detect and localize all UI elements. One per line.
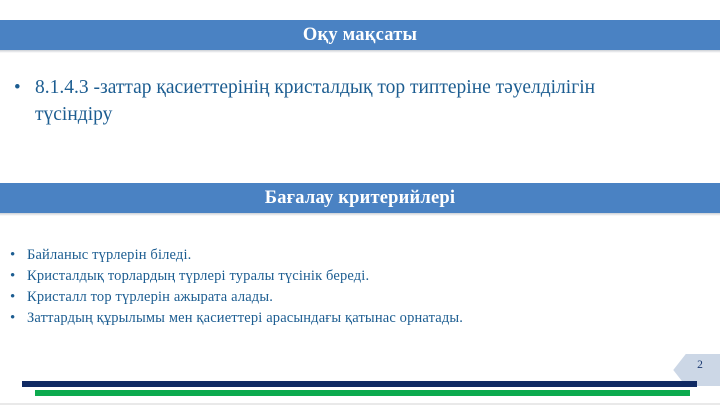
- objective-item-text: 8.1.4.3 -заттар қасиеттерінің кристалдық…: [31, 74, 654, 128]
- page-number: 2: [690, 358, 710, 372]
- criteria-list-item: • Кристалл тор түрлерін ажырата алады.: [6, 287, 686, 308]
- criteria-item-text: Кристалдық торлардың түрлері туралы түсі…: [27, 266, 686, 287]
- criteria-item-text: Заттардың құрылымы мен қасиеттері арасын…: [27, 308, 686, 329]
- objective-list: • 8.1.4.3 -заттар қасиеттерінің кристалд…: [14, 74, 654, 128]
- bullet-icon: •: [6, 245, 27, 266]
- criteria-banner: Бағалау критерийлері: [0, 183, 720, 213]
- criteria-item-text: Байланыс түрлерін біледі.: [27, 245, 686, 266]
- criteria-list-item: • Кристалдық торлардың түрлері туралы тү…: [6, 266, 686, 287]
- criteria-banner-shadow: [0, 213, 720, 216]
- bullet-icon: •: [6, 287, 27, 308]
- footer-bar-green: [35, 390, 690, 396]
- criteria-list: • Байланыс түрлерін біледі. • Кристалдық…: [6, 245, 686, 329]
- objective-list-item: • 8.1.4.3 -заттар қасиеттерінің кристалд…: [14, 74, 654, 128]
- objective-banner-title: Оқу мақсаты: [303, 26, 417, 45]
- objective-banner: Оқу мақсаты: [0, 20, 720, 50]
- footer-bar-navy: [22, 381, 697, 387]
- criteria-banner-title: Бағалау критерийлері: [265, 189, 455, 208]
- slide-canvas: Оқу мақсаты • 8.1.4.3 -заттар қасиеттері…: [0, 0, 720, 405]
- bullet-icon: •: [6, 308, 27, 329]
- criteria-list-item: • Байланыс түрлерін біледі.: [6, 245, 686, 266]
- bullet-icon: •: [14, 74, 31, 101]
- criteria-list-item: • Заттардың құрылымы мен қасиеттері арас…: [6, 308, 686, 329]
- bullet-icon: •: [6, 266, 27, 287]
- criteria-item-text: Кристалл тор түрлерін ажырата алады.: [27, 287, 686, 308]
- objective-banner-shadow: [0, 50, 720, 53]
